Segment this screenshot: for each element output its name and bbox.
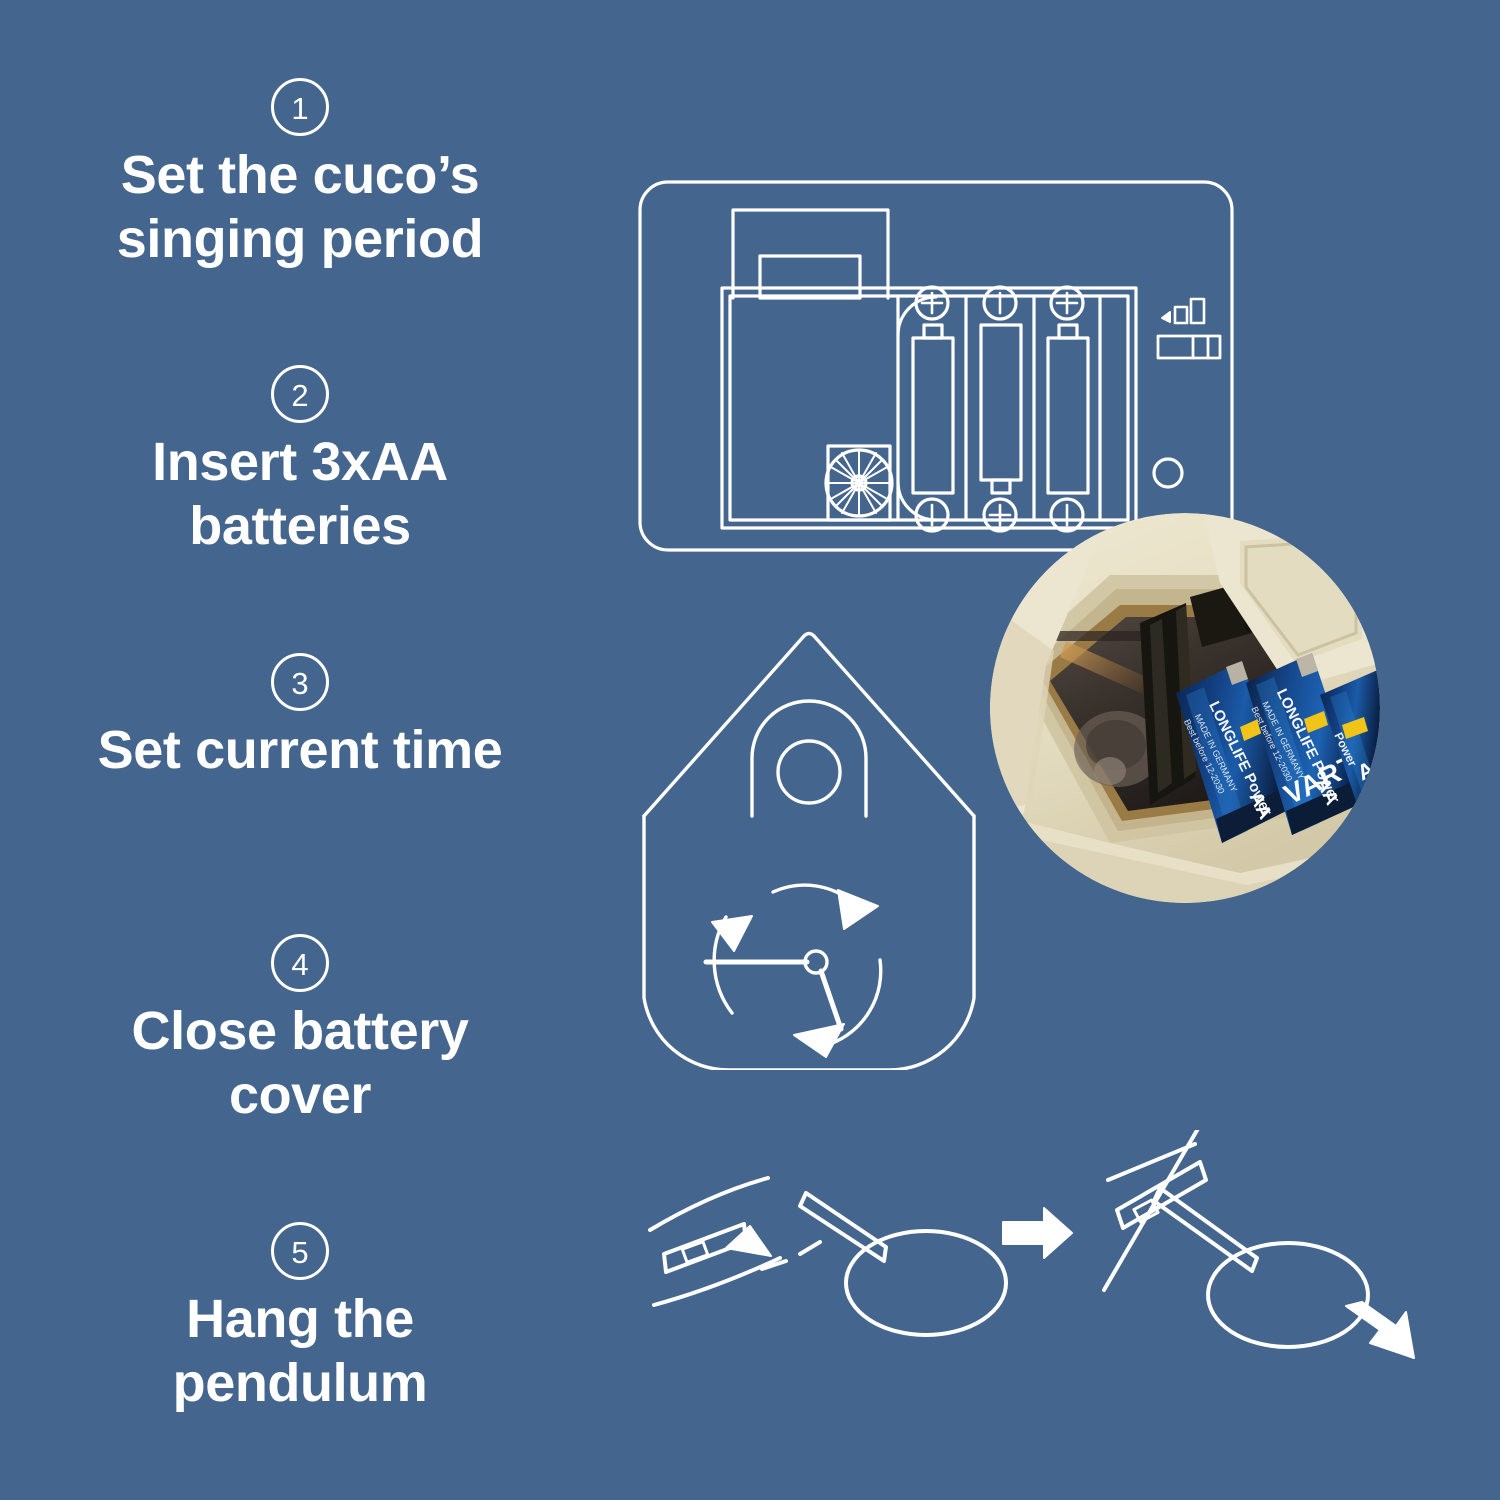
movement-cutout	[898, 297, 936, 520]
cuckoo-clock-diagram	[630, 620, 1010, 1070]
clock-base-line-top	[650, 1178, 768, 1230]
screw-hole	[1154, 459, 1182, 487]
step-5-number-badge: 5	[271, 1222, 329, 1280]
clock-hand-hour	[821, 971, 841, 1029]
step-3-number-badge: 3	[271, 653, 329, 711]
battery-2-body	[981, 325, 1021, 480]
battery-3-cap	[1059, 325, 1077, 338]
pendulum-rod-before	[800, 1193, 886, 1261]
step-1: 1 Set the cuco’s singing period	[0, 78, 600, 271]
step-3: 3 Set current time	[0, 653, 600, 783]
battery-slot-2	[981, 287, 1021, 531]
right-arrow-icon	[1003, 1208, 1072, 1258]
rotation-arrow-cw-top	[773, 885, 878, 929]
pendulum-after-group	[1104, 1130, 1414, 1358]
step-2-label: Insert 3xAA batteries	[0, 431, 600, 558]
battery-slot-1	[913, 287, 953, 531]
step-2: 2 Insert 3xAA batteries	[0, 365, 600, 558]
pendulum-bob-before	[846, 1231, 1006, 1335]
battery-2-cap	[992, 480, 1010, 493]
step-5: 5 Hang the pendulum	[0, 1222, 600, 1415]
clock-base-line-bottom	[654, 1258, 780, 1305]
rotation-arrow-cw-bottom	[794, 960, 881, 1057]
battery-compartment-diagram	[630, 170, 1250, 570]
step-5-label: Hang the pendulum	[0, 1288, 600, 1415]
battery-slot-3	[1048, 287, 1088, 531]
volume-bar-3	[1191, 299, 1204, 323]
volume-bar-2	[1175, 307, 1187, 323]
cuckoo-door	[752, 701, 866, 816]
battery-3-body	[1048, 338, 1088, 493]
step-3-label: Set current time	[0, 719, 600, 783]
clock-roof	[644, 634, 974, 817]
pendulum-bob-after	[1208, 1243, 1368, 1347]
cover-tab-outline	[733, 210, 888, 298]
insert-arrow	[726, 1226, 771, 1256]
volume-track	[1158, 336, 1220, 358]
step-2-number-badge: 2	[271, 365, 329, 423]
battery-1-body	[913, 338, 953, 493]
bellows-fan-icon	[826, 446, 892, 520]
step-4-number-badge: 4	[271, 934, 329, 992]
pendulum-hang-diagram	[620, 1130, 1450, 1360]
volume-bar-1	[1162, 312, 1170, 322]
step-1-number-badge: 1	[271, 78, 329, 136]
battery-1-cap	[924, 325, 942, 338]
cover-tab-latch	[760, 256, 860, 298]
compartment-frame-inner	[730, 296, 1128, 520]
battery-photo: LONGLIFE Power MADE IN GERMANY Best befo…	[990, 513, 1380, 903]
step-1-label: Set the cuco’s singing period	[0, 144, 600, 271]
pendulum-before-group	[650, 1178, 1006, 1335]
cuckoo-hole	[778, 741, 840, 803]
step-4-label: Close battery cover	[0, 1000, 600, 1127]
step-4: 4 Close battery cover	[0, 934, 600, 1127]
swing-arrow	[1346, 1302, 1414, 1358]
volume-slider-icon	[1158, 299, 1220, 358]
infographic-poster: 1 Set the cuco’s singing period 2 Insert…	[0, 0, 1500, 1500]
steps-column: 1 Set the cuco’s singing period 2 Insert…	[0, 0, 600, 1500]
battery-photo-inset: LONGLIFE Power MADE IN GERMANY Best befo…	[990, 513, 1380, 903]
pendulum-before	[800, 1193, 1006, 1335]
